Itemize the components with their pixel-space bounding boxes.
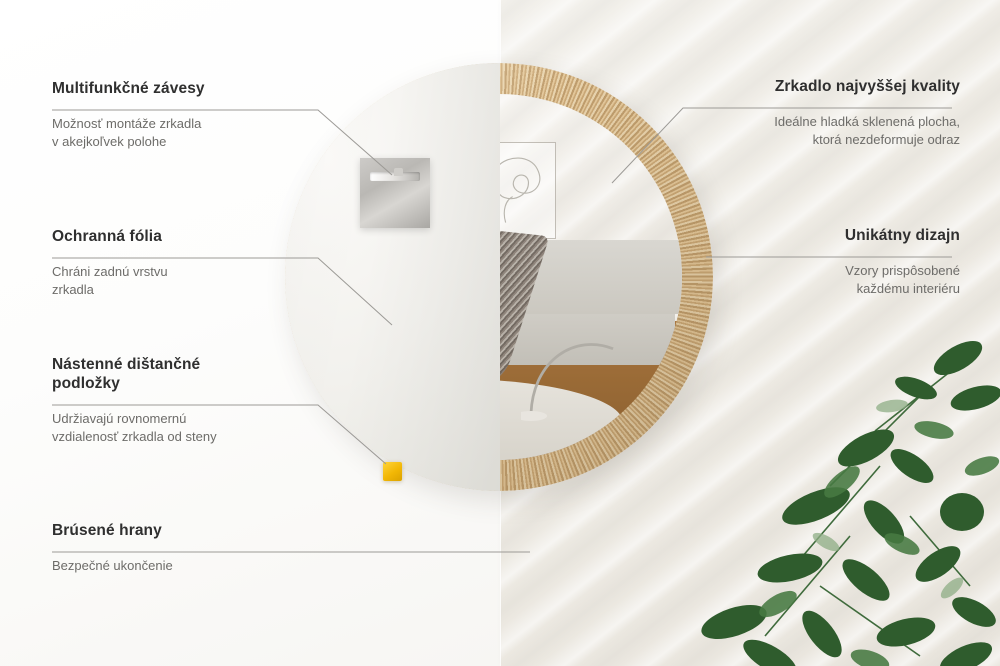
callout-desc-line1: Možnosť montáže zrkadla — [52, 115, 320, 133]
callout-desc-line1: Ideálne hladká sklenená plocha, — [660, 113, 960, 131]
callout-desc-line1: Bezpečné ukončenie — [52, 557, 320, 575]
wall-hanger-bracket — [360, 158, 430, 228]
callout-title: Zrkadlo najvyššej kvality — [660, 77, 960, 96]
callout-polished-edges: Brúsené hrany Bezpečné ukončenie — [52, 521, 320, 575]
callout-title: Multifunkčné závesy — [52, 79, 320, 98]
round-mirror — [285, 63, 713, 491]
callout-title: Ochranná fólia — [52, 227, 320, 246]
infographic-stage: Multifunkčné závesy Možnosť montáže zrka… — [0, 0, 1000, 666]
callout-desc-line1: Chráni zadnú vrstvu — [52, 263, 320, 281]
callout-desc-line2: ktorá nezdeformuje odraz — [660, 131, 960, 149]
callout-title-line2: podložky — [52, 374, 320, 393]
callout-desc-line1: Udržiavajú rovnomernú — [52, 410, 320, 428]
callout-desc-line2: v akejkoľvek polohe — [52, 133, 320, 151]
callout-desc-line2: zrkadla — [52, 281, 320, 299]
callout-top-quality-mirror: Zrkadlo najvyššej kvality Ideálne hladká… — [660, 77, 960, 148]
callout-unique-design: Unikátny dizajn Vzory prispôsobené každé… — [660, 226, 960, 297]
hanger-notch — [394, 168, 403, 176]
wall-spacer-pad — [383, 462, 402, 481]
reflected-arc-lamp — [521, 299, 645, 423]
callout-protective-foil: Ochranná fólia Chráni zadnú vrstvu zrkad… — [52, 227, 320, 298]
plant-foliage — [670, 336, 1000, 666]
callout-desc-line2: každému interiéru — [660, 280, 960, 298]
callout-desc-line2: vzdialenosť zrkadla od steny — [52, 428, 320, 446]
callout-desc-line1: Vzory prispôsobené — [660, 262, 960, 280]
callout-title: Brúsené hrany — [52, 521, 320, 540]
callout-title-line1: Nástenné dištančné — [52, 355, 320, 374]
callout-wall-spacers: Nástenné dištančné podložky Udržiavajú r… — [52, 355, 320, 445]
callout-multifunctional-hangers: Multifunkčné závesy Možnosť montáže zrka… — [52, 79, 320, 150]
callout-title: Unikátny dizajn — [660, 226, 960, 245]
